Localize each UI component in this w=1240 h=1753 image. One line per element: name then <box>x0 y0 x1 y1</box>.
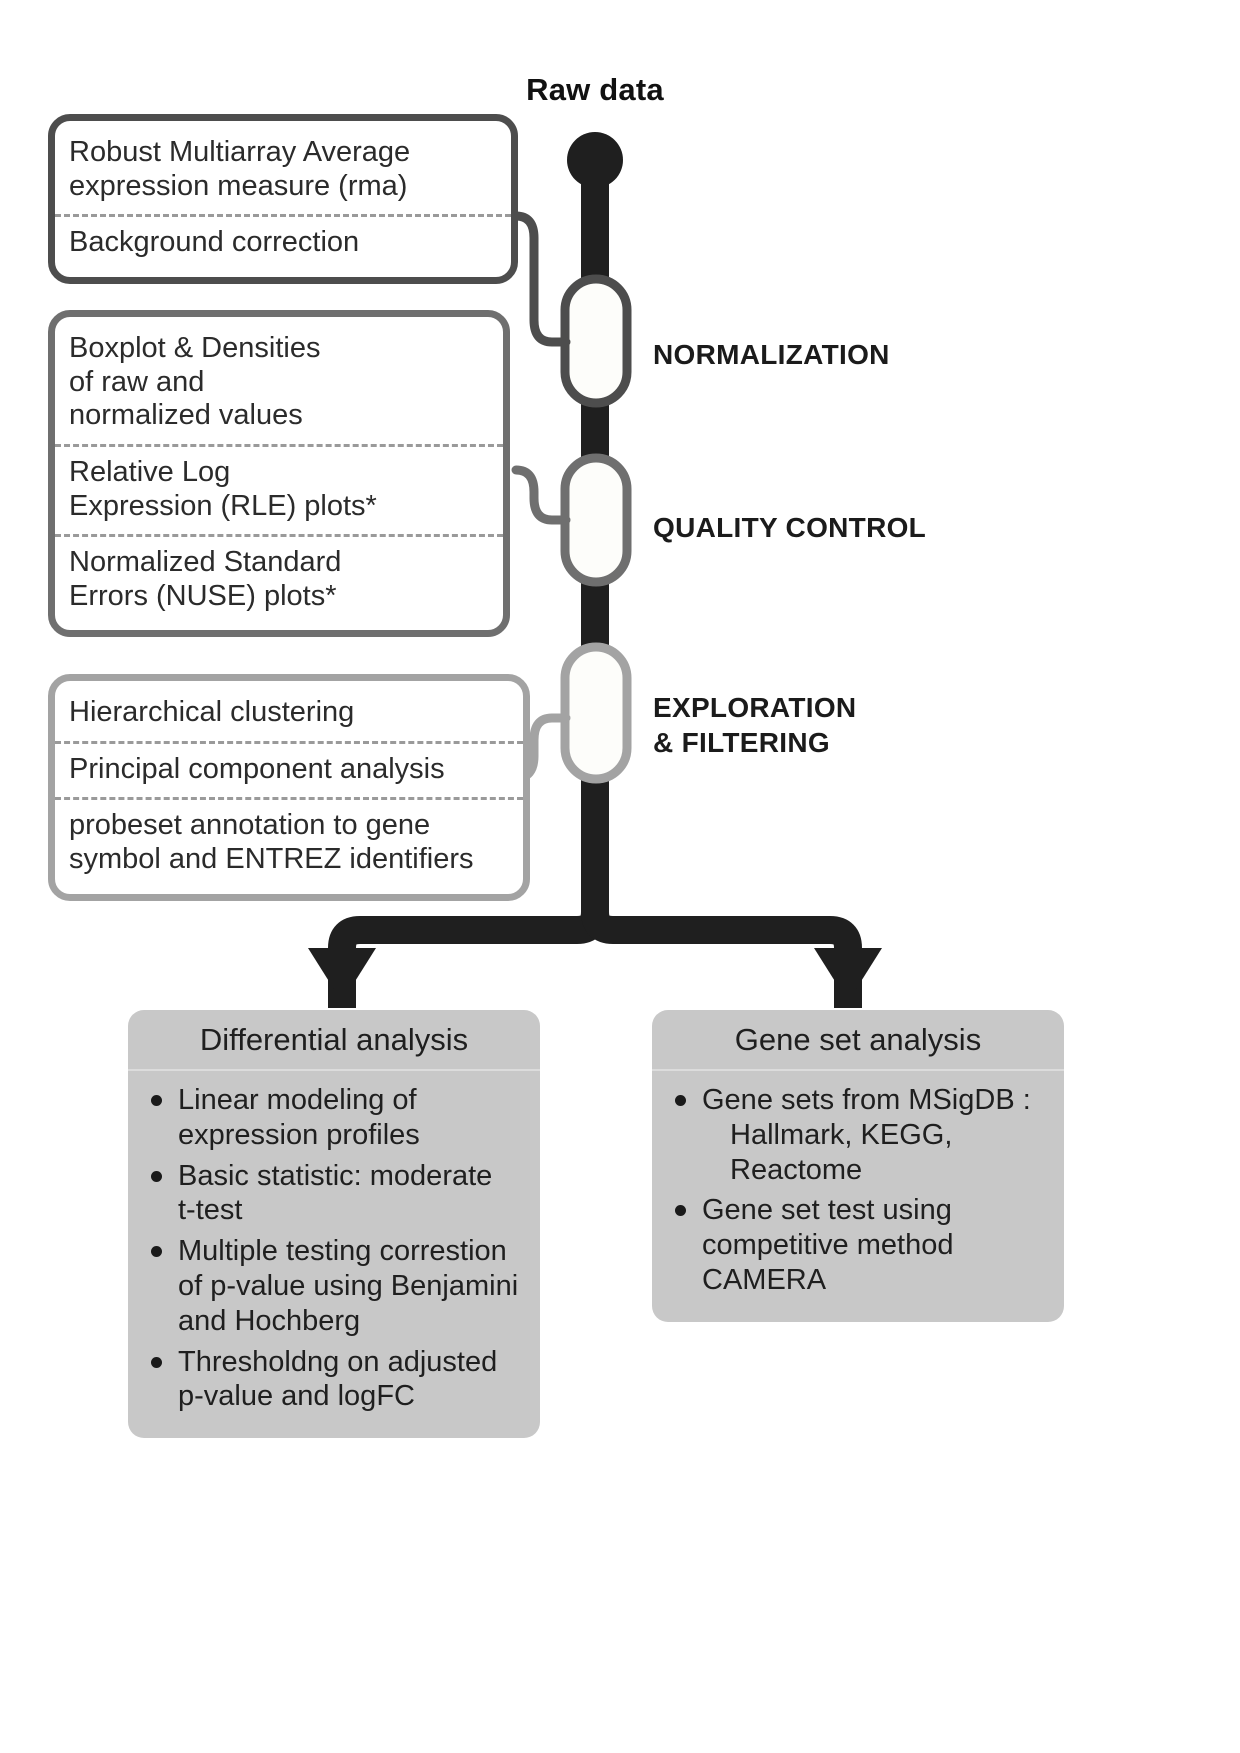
stage-row: Boxplot & Densities of raw and normalize… <box>55 323 503 444</box>
list-item-line: Reactome <box>702 1153 1048 1188</box>
stage-label-quality-control: QUALITY CONTROL <box>653 510 926 545</box>
stage-label-exploration: EXPLORATION & FILTERING <box>653 690 856 760</box>
stage-row-line: expression measure (rma) <box>69 170 497 204</box>
list-item-line: Basic statistic: moderate <box>178 1159 524 1194</box>
bullet-icon <box>151 1357 162 1368</box>
stage-box-normalization: Robust Multiarray Average expression mea… <box>48 114 518 284</box>
result-panel-header: Gene set analysis <box>652 1010 1064 1071</box>
stage-row: Robust Multiarray Average expression mea… <box>55 127 511 214</box>
stage-box-exploration: Hierarchical clustering Principal compon… <box>48 674 530 901</box>
stage-row: Hierarchical clustering <box>55 687 523 741</box>
stage-row-line: Background correction <box>69 226 497 260</box>
flowchart-diagram: Raw data Robust Multi <box>0 0 1240 1753</box>
list-item-line: and Hochberg <box>178 1304 524 1339</box>
stage-node-exploration <box>516 647 627 779</box>
stage-row-line: of raw and <box>69 366 489 400</box>
result-panel-list: Linear modeling of expression profiles B… <box>128 1071 540 1438</box>
stage-row-line: Principal component analysis <box>69 753 509 787</box>
result-panel-gene-set-analysis: Gene set analysis Gene sets from MSigDB … <box>652 1010 1064 1322</box>
list-item: Gene set test using competitive method C… <box>668 1193 1048 1297</box>
result-panel-list: Gene sets from MSigDB : Hallmark, KEGG, … <box>652 1071 1064 1322</box>
stage-row: Background correction <box>55 214 511 271</box>
stage-label-normalization: NORMALIZATION <box>653 337 890 372</box>
list-item-line: CAMERA <box>702 1263 1048 1298</box>
stage-row-line: Boxplot & Densities <box>69 332 489 366</box>
list-item-line: Thresholdng on adjusted <box>178 1345 524 1380</box>
bullet-icon <box>675 1095 686 1106</box>
bullet-icon <box>675 1205 686 1216</box>
list-item-line: Hallmark, KEGG, <box>702 1118 1048 1153</box>
stage-row-line: Hierarchical clustering <box>69 696 509 730</box>
list-item-line: Multiple testing correstion <box>178 1234 524 1269</box>
list-item-line: Gene sets from MSigDB : <box>702 1083 1048 1118</box>
stage-row: Relative Log Expression (RLE) plots* <box>55 444 503 534</box>
list-item-line: Gene set test using <box>702 1193 1048 1228</box>
bullet-icon <box>151 1171 162 1182</box>
stage-box-quality-control: Boxplot & Densities of raw and normalize… <box>48 310 510 637</box>
stage-row-line: Robust Multiarray Average <box>69 136 497 170</box>
stage-row: Normalized Standard Errors (NUSE) plots* <box>55 534 503 624</box>
bullet-icon <box>151 1246 162 1257</box>
list-item-line: p-value and logFC <box>178 1379 524 1414</box>
result-panel-header: Differential analysis <box>128 1010 540 1071</box>
stage-node-quality-control <box>516 458 627 582</box>
bullet-icon <box>151 1095 162 1106</box>
stage-row: Principal component analysis <box>55 741 523 798</box>
stage-row-line: symbol and ENTREZ identifiers <box>69 843 509 877</box>
stage-row-line: normalized values <box>69 399 489 433</box>
fork-arrow <box>308 900 882 1008</box>
result-panel-differential-analysis: Differential analysis Linear modeling of… <box>128 1010 540 1438</box>
stage-row-line: Expression (RLE) plots* <box>69 490 489 524</box>
list-item-line: expression profiles <box>178 1118 524 1153</box>
list-item: Basic statistic: moderate t-test <box>144 1159 524 1229</box>
list-item-line: competitive method <box>702 1228 1048 1263</box>
stage-node-normalization <box>516 216 627 403</box>
stage-row-line: probeset annotation to gene <box>69 809 509 843</box>
stage-row-line: Normalized Standard <box>69 546 489 580</box>
list-item: Linear modeling of expression profiles <box>144 1083 524 1153</box>
list-item: Multiple testing correstion of p-value u… <box>144 1234 524 1338</box>
list-item-line: of p-value using Benjamini <box>178 1269 524 1304</box>
stage-row-line: Relative Log <box>69 456 489 490</box>
list-item: Thresholdng on adjusted p-value and logF… <box>144 1345 524 1415</box>
stage-row: probeset annotation to gene symbol and E… <box>55 797 523 887</box>
list-item-line: Linear modeling of <box>178 1083 524 1118</box>
list-item: Gene sets from MSigDB : Hallmark, KEGG, … <box>668 1083 1048 1187</box>
stage-row-line: Errors (NUSE) plots* <box>69 580 489 614</box>
list-item-line: t-test <box>178 1193 524 1228</box>
